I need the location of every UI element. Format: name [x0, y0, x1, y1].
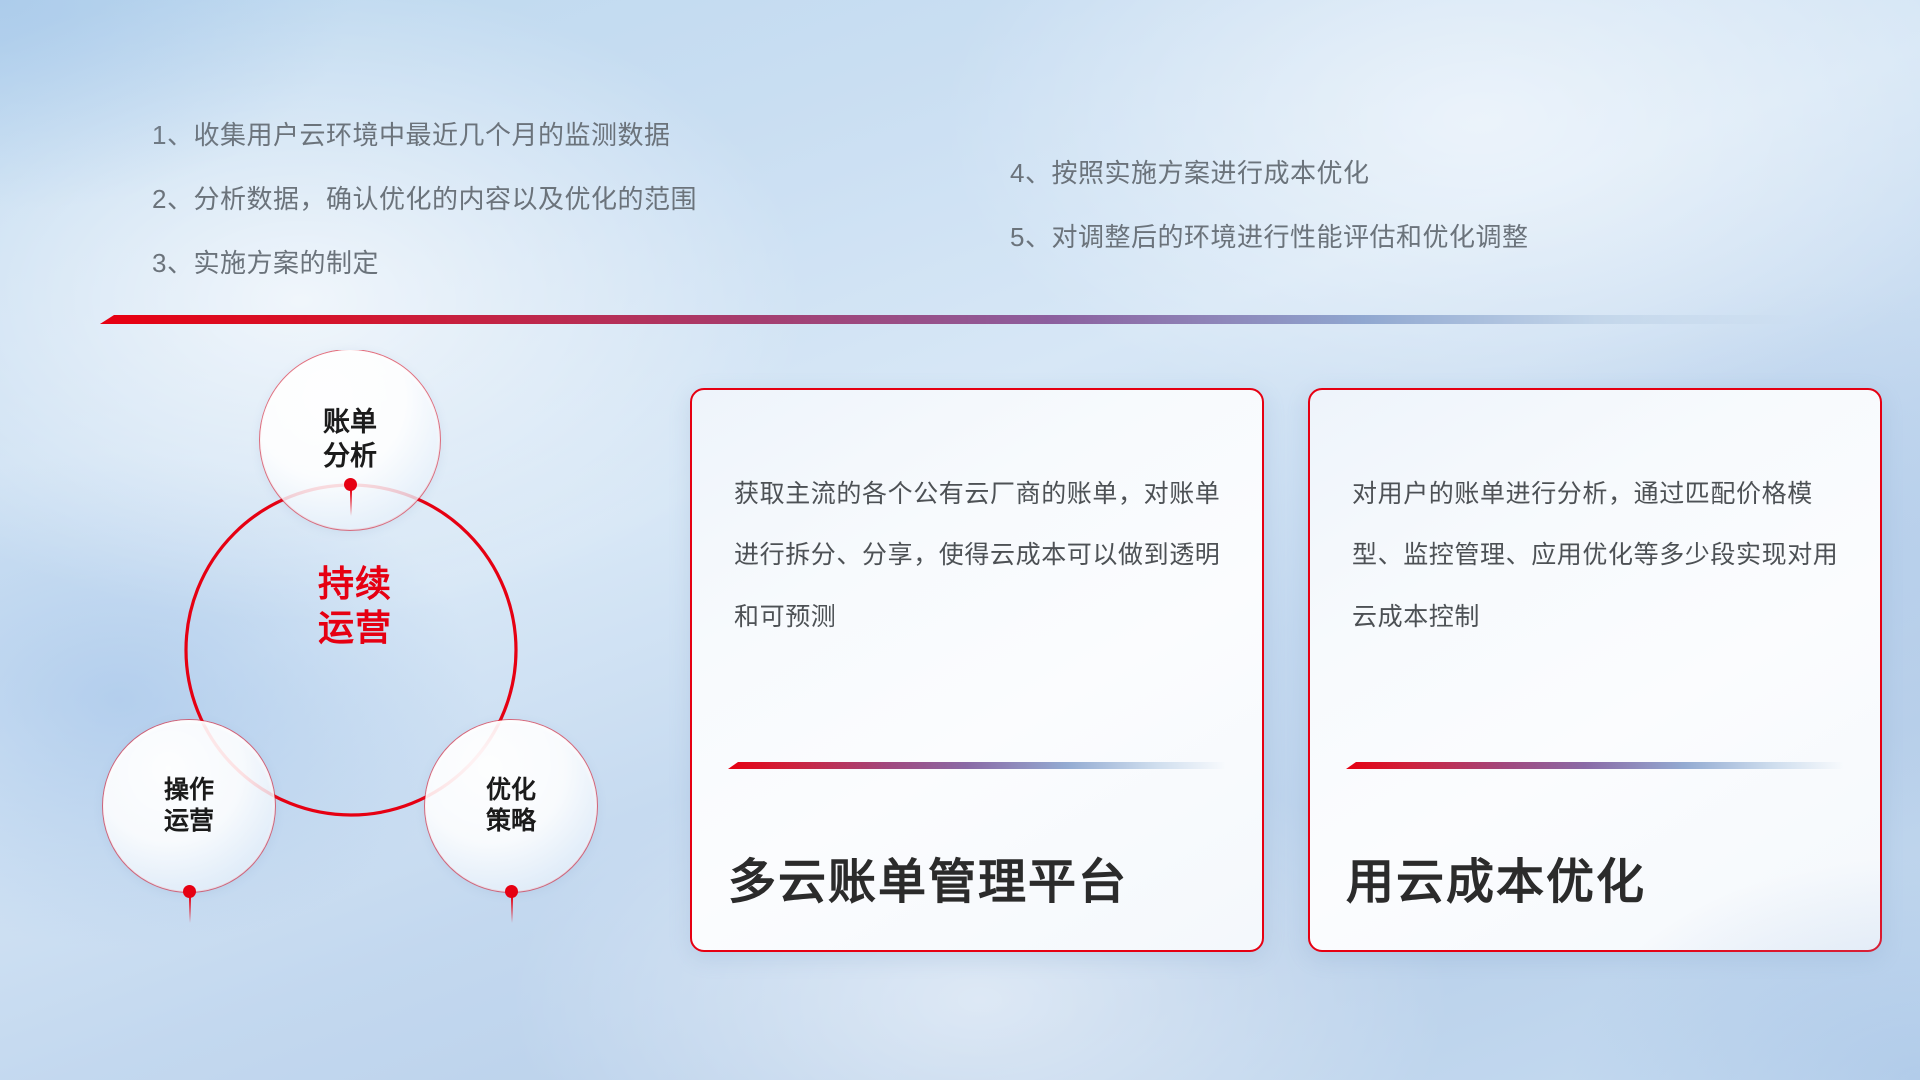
connector-tail-bottom-right	[511, 897, 513, 923]
connector-tail-bottom-left	[189, 897, 191, 923]
bubble-operations[interactable]: 操作运营	[103, 720, 275, 892]
list-item: 3、实施方案的制定	[152, 250, 697, 276]
list-item: 2、分析数据，确认优化的内容以及优化的范围	[152, 186, 697, 212]
steps-list-left: 1、收集用户云环境中最近几个月的监测数据 2、分析数据，确认优化的内容以及优化的…	[152, 122, 697, 276]
section-divider	[100, 315, 1800, 324]
list-item: 4、按照实施方案进行成本优化	[1010, 160, 1528, 186]
cycle-diagram: 账单分析 操作运营 优化策略 持续运营	[95, 350, 655, 960]
card-multicloud-billing[interactable]: 获取主流的各个公有云厂商的账单，对账单进行拆分、分享，使得云成本可以做到透明和可…	[690, 388, 1264, 952]
list-item: 5、对调整后的环境进行性能评估和优化调整	[1010, 224, 1528, 250]
card-divider	[728, 762, 1226, 769]
bubble-optimization-strategy[interactable]: 优化策略	[425, 720, 597, 892]
bubble-label: 账单分析	[323, 406, 377, 474]
connector-tail-top	[350, 490, 352, 516]
card-cloud-cost-optimization[interactable]: 对用户的账单进行分析，通过匹配价格模型、监控管理、应用优化等多少段实现对用云成本…	[1308, 388, 1882, 952]
list-item: 1、收集用户云环境中最近几个月的监测数据	[152, 122, 697, 148]
card-divider	[1346, 762, 1844, 769]
diagram-center-label: 持续运营	[280, 562, 430, 650]
card-title: 多云账单管理平台	[728, 842, 1232, 912]
slide-canvas: 1、收集用户云环境中最近几个月的监测数据 2、分析数据，确认优化的内容以及优化的…	[0, 0, 1920, 1080]
steps-list-right: 4、按照实施方案进行成本优化 5、对调整后的环境进行性能评估和优化调整	[1010, 160, 1528, 250]
bubble-label: 操作运营	[164, 775, 214, 838]
bubble-label: 优化策略	[486, 775, 536, 838]
card-body-text: 对用户的账单进行分析，通过匹配价格模型、监控管理、应用优化等多少段实现对用云成本…	[1352, 464, 1844, 648]
card-body-text: 获取主流的各个公有云厂商的账单，对账单进行拆分、分享，使得云成本可以做到透明和可…	[734, 464, 1226, 648]
card-title: 用云成本优化	[1346, 842, 1850, 912]
